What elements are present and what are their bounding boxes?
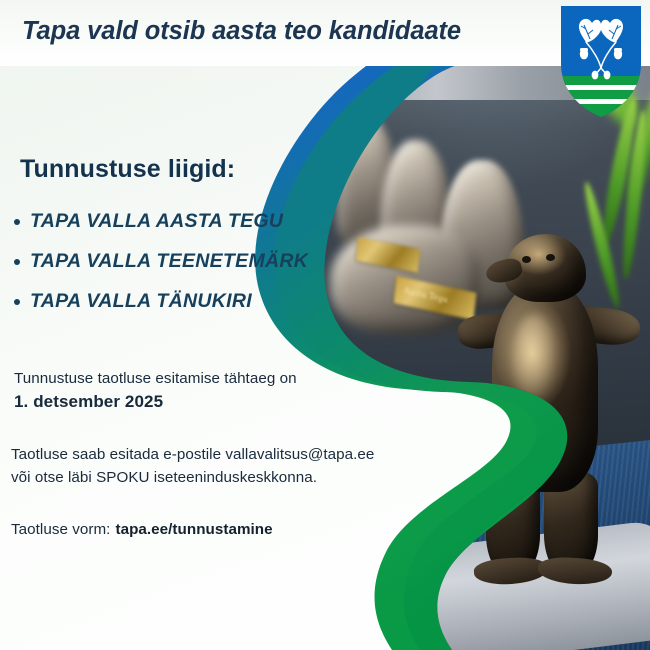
deadline-date: 1. detsember 2025 — [14, 391, 297, 412]
award-types-list: TAPA VALLA AASTA TEGU TAPA VALLA TEENETE… — [8, 210, 308, 330]
poster-content: Tunnustuse liigid: TAPA VALLA AASTA TEGU… — [0, 0, 650, 650]
submission-block: Taotluse saab esitada e-postile vallaval… — [11, 443, 374, 489]
form-url[interactable]: tapa.ee/tunnustamine — [115, 521, 272, 538]
form-label: Taotluse vorm: — [11, 521, 110, 538]
list-item: TAPA VALLA TÄNUKIRI — [30, 290, 308, 313]
form-block: Taotluse vorm:tapa.ee/tunnustamine — [11, 519, 273, 540]
deadline-block: Tunnustuse taotluse esitamise tähtaeg on… — [14, 368, 297, 412]
section-heading: Tunnustuse liigid: — [20, 155, 235, 184]
list-item: TAPA VALLA AASTA TEGU — [30, 210, 308, 233]
submission-line-2: või otse läbi SPOKU iseteeninduskeskkonn… — [11, 469, 317, 486]
deadline-lead: Tunnustuse taotluse esitamise tähtaeg on — [14, 370, 297, 387]
tapa-vald-coat-of-arms-icon — [559, 6, 643, 118]
list-item: TAPA VALLA TEENETEMÄRK — [30, 250, 308, 273]
submission-line-1: Taotluse saab esitada e-postile vallaval… — [11, 446, 374, 463]
page-title: Tapa vald otsib aasta teo kandidaate — [22, 17, 461, 46]
poster: Aasta Tegu — [0, 0, 650, 650]
